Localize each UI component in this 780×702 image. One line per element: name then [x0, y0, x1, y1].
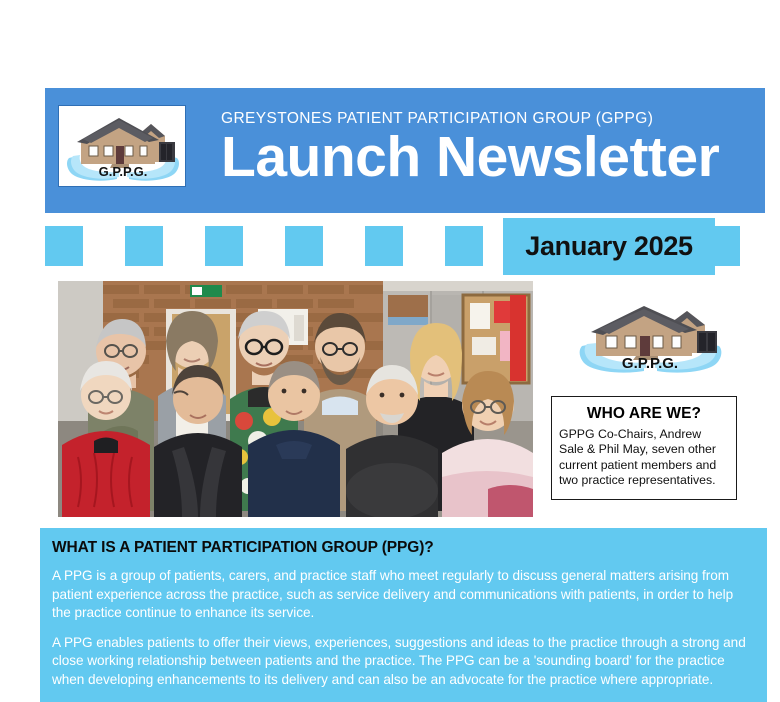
gppg-logo-graphic: G.P.P.G.	[59, 106, 186, 187]
who-are-we-title: WHO ARE WE?	[559, 405, 729, 423]
decor-square	[205, 226, 243, 266]
gppg-logo-secondary-graphic: G.P.P.G.	[568, 298, 733, 378]
decor-square	[125, 226, 163, 266]
issue-date: January 2025	[503, 218, 715, 275]
date-banner: January 2025	[503, 218, 715, 275]
who-are-we-body: GPPG Co-Chairs, Andrew Sale & Phil May, …	[559, 427, 729, 489]
gppg-logo-secondary: G.P.P.G.	[568, 298, 733, 378]
newsletter-page: G.P.P.G. GREYSTONES PATIENT PARTICIPATIO…	[0, 0, 780, 702]
gppg-logo: G.P.P.G.	[58, 105, 186, 187]
header-banner: G.P.P.G. GREYSTONES PATIENT PARTICIPATIO…	[45, 88, 765, 213]
gppg-logo-caption: G.P.P.G.	[99, 164, 148, 179]
gppg-group-photo	[58, 281, 533, 517]
gppg-logo-secondary-caption: G.P.P.G.	[622, 355, 678, 372]
decor-square	[45, 226, 83, 266]
ppg-paragraph: A PPG is a group of patients, carers, an…	[52, 567, 755, 623]
decor-square	[365, 226, 403, 266]
ppg-explainer-section: WHAT IS A PATIENT PARTICIPATION GROUP (P…	[40, 528, 767, 702]
decor-square	[285, 226, 323, 266]
date-banner-tab	[715, 226, 740, 266]
who-are-we-box: WHO ARE WE? GPPG Co-Chairs, Andrew Sale …	[551, 396, 737, 500]
ppg-section-heading: WHAT IS A PATIENT PARTICIPATION GROUP (P…	[52, 539, 755, 557]
group-photo-graphic	[58, 281, 533, 517]
ppg-paragraph: A PPG enables patients to offer their vi…	[52, 634, 755, 690]
decor-square	[445, 226, 483, 266]
page-title: Launch Newsletter	[221, 128, 761, 188]
